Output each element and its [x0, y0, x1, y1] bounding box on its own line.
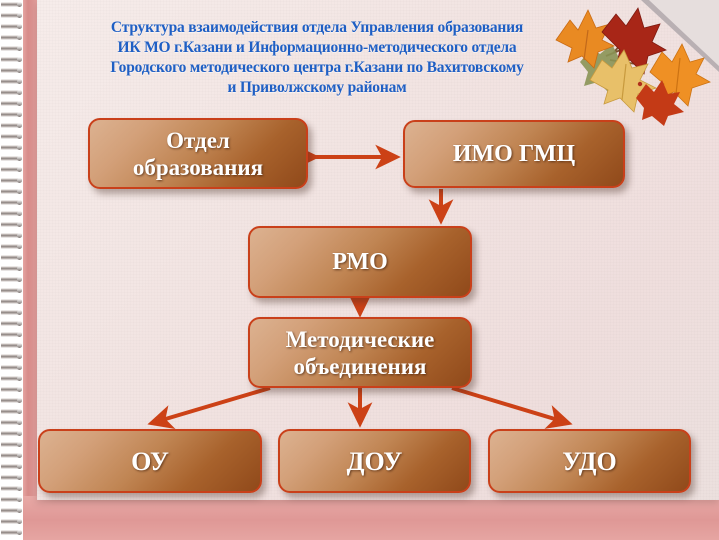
spiral-ring	[1, 46, 22, 51]
spiral-ring	[1, 497, 22, 502]
spiral-binding	[0, 0, 23, 540]
spiral-ring	[1, 409, 22, 414]
spiral-ring	[1, 244, 22, 249]
spiral-ring	[1, 299, 22, 304]
spiral-ring	[1, 90, 22, 95]
spiral-ring	[1, 464, 22, 469]
spiral-ring	[1, 365, 22, 370]
spiral-ring	[1, 486, 22, 491]
spiral-ring	[1, 321, 22, 326]
spiral-ring	[1, 123, 22, 128]
node-imo-gmc[interactable]: ИМО ГМЦ	[403, 120, 625, 188]
spiral-ring	[1, 530, 22, 535]
spiral-ring	[1, 343, 22, 348]
spiral-ring	[1, 376, 22, 381]
spiral-ring	[1, 288, 22, 293]
spiral-ring	[1, 420, 22, 425]
spiral-ring	[1, 387, 22, 392]
spiral-ring	[1, 431, 22, 436]
spiral-ring	[1, 233, 22, 238]
node-metodicheskie-obedineniya[interactable]: Методические объединения	[248, 317, 472, 388]
spiral-ring	[1, 200, 22, 205]
node-label: Отдел образования	[125, 127, 271, 181]
title-line-3: Городского методического центра г.Казани…	[37, 58, 597, 78]
slide-canvas: Структура взаимодействия отдела Управлен…	[0, 0, 719, 540]
node-label: ДОУ	[339, 448, 411, 475]
spiral-ring	[1, 145, 22, 150]
spiral-ring	[1, 189, 22, 194]
node-udo[interactable]: УДО	[488, 429, 691, 493]
spiral-ring	[1, 519, 22, 524]
spiral-ring	[1, 453, 22, 458]
spiral-ring	[1, 167, 22, 172]
spiral-ring	[1, 475, 22, 480]
spiral-ring	[1, 277, 22, 282]
spiral-ring	[1, 134, 22, 139]
spiral-ring	[1, 255, 22, 260]
spiral-ring	[1, 332, 22, 337]
page-title: Структура взаимодействия отдела Управлен…	[37, 18, 597, 98]
spiral-ring	[1, 112, 22, 117]
node-label: УДО	[554, 448, 625, 475]
spiral-ring	[1, 354, 22, 359]
page-bottom-pink-band	[22, 496, 719, 540]
node-label: ОУ	[123, 448, 177, 475]
spiral-ring	[1, 310, 22, 315]
spiral-ring	[1, 222, 22, 227]
spiral-ring	[1, 266, 22, 271]
spiral-ring	[1, 508, 22, 513]
node-dou[interactable]: ДОУ	[278, 429, 471, 493]
page-fold-front	[649, 0, 719, 66]
spiral-ring	[1, 156, 22, 161]
node-ou[interactable]: ОУ	[38, 429, 262, 493]
spiral-ring	[1, 178, 22, 183]
spiral-ring	[1, 211, 22, 216]
node-rmo[interactable]: РМО	[248, 226, 472, 298]
node-label: ИМО ГМЦ	[445, 141, 583, 168]
spiral-ring	[1, 398, 22, 403]
page-left-pink-band	[22, 0, 37, 540]
node-label: Методические объединения	[278, 326, 443, 380]
spiral-ring	[1, 2, 22, 7]
spiral-ring	[1, 68, 22, 73]
spiral-ring	[1, 35, 22, 40]
spiral-ring	[1, 101, 22, 106]
spiral-ring	[1, 442, 22, 447]
spiral-ring	[1, 57, 22, 62]
spiral-ring	[1, 13, 22, 18]
spiral-ring	[1, 79, 22, 84]
title-line-1: Структура взаимодействия отдела Управлен…	[37, 18, 597, 38]
title-line-2: ИК МО г.Казани и Информационно-методичес…	[37, 38, 597, 58]
title-line-4: и Приволжскому районам	[37, 78, 597, 98]
node-otdel-obrazovaniya[interactable]: Отдел образования	[88, 118, 308, 189]
spiral-ring	[1, 24, 22, 29]
node-label: РМО	[324, 249, 396, 276]
